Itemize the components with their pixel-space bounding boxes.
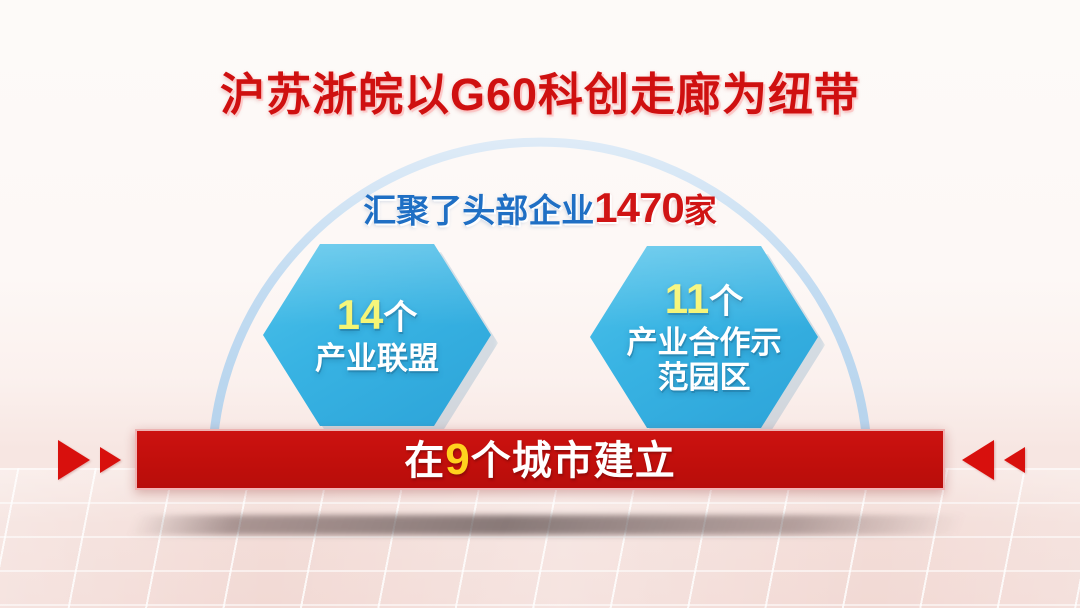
banner-suffix: 个城市建立 bbox=[471, 439, 676, 483]
hexagon-left-label: 产业联盟 bbox=[315, 342, 439, 377]
hexagon-left-count: 14个 bbox=[337, 294, 418, 337]
hexagon-right-count: 11个 bbox=[665, 278, 743, 321]
bottom-banner[interactable]: 在9个城市建立 bbox=[135, 429, 945, 490]
right-arrow-group bbox=[962, 429, 1025, 490]
subtitle-number: 1470 bbox=[594, 184, 683, 231]
banner-ground-shadow bbox=[128, 515, 966, 535]
hexagon-right-number: 11 bbox=[665, 275, 709, 322]
hexagon-right-label: 产业合作示 范园区 bbox=[627, 326, 782, 395]
left-arrow-group bbox=[58, 429, 121, 490]
page-title: 沪苏浙皖以G60科创走廊为纽带 bbox=[0, 58, 1080, 123]
hexagon-right-unit: 个 bbox=[709, 283, 743, 321]
banner-prefix: 在 bbox=[404, 439, 445, 483]
triangle-left-large-icon bbox=[962, 440, 994, 480]
banner-text: 在9个城市建立 bbox=[404, 438, 675, 482]
hexagon-left-number: 14 bbox=[337, 291, 384, 338]
banner-number: 9 bbox=[445, 435, 470, 484]
triangle-right-large-icon bbox=[58, 440, 90, 480]
infographic-slide: 沪苏浙皖以G60科创走廊为纽带 汇聚了头部企业1470家 14个 产业联盟 11… bbox=[0, 0, 1080, 608]
hexagon-left-unit: 个 bbox=[383, 299, 417, 337]
subtitle-unit: 家 bbox=[684, 192, 717, 229]
hexagon-right-label-line2: 范园区 bbox=[627, 361, 782, 396]
subtitle-lead-text: 汇聚了头部企业 bbox=[363, 192, 594, 229]
subtitle: 汇聚了头部企业1470家 bbox=[0, 184, 1080, 232]
hexagon-right-label-line1: 产业合作示 bbox=[627, 326, 782, 361]
triangle-left-small-icon bbox=[1004, 447, 1025, 473]
triangle-right-small-icon bbox=[100, 447, 121, 473]
